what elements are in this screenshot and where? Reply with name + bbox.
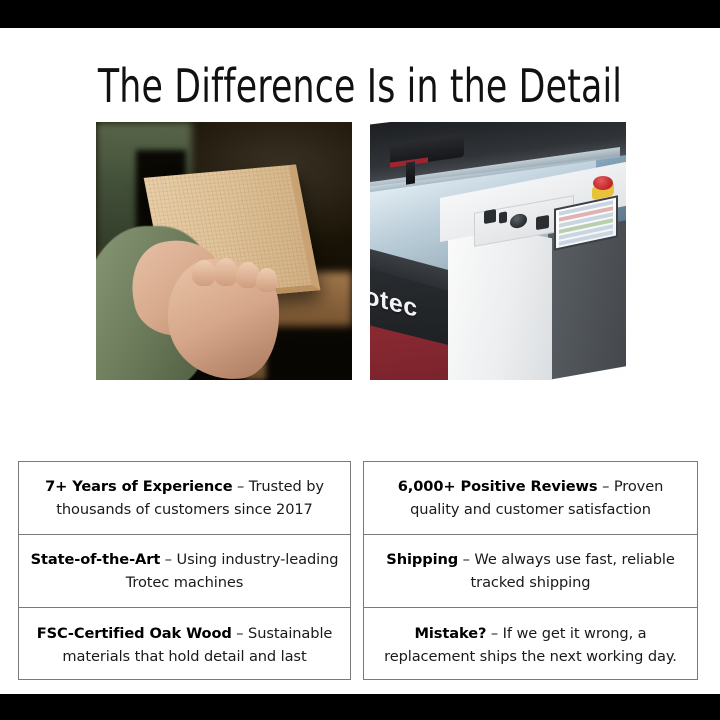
feature-headline: FSC-Certified Oak Wood [37,625,232,642]
photo-knuckle [192,260,216,286]
feature-text: Shipping – We always use fast, reliable … [374,548,687,594]
feature-separator: – [598,478,614,495]
photo-trotec-laser-machine: rotec [370,122,626,380]
photo-knuckle [256,268,278,292]
feature-separator: – [160,551,176,568]
machine-button[interactable] [499,211,507,223]
page-title: The Difference Is in the Detail [58,60,663,112]
feature-headline: 6,000+ Positive Reviews [398,478,598,495]
feature-cell: State-of-the-Art – Using industry-leadin… [19,535,350,608]
feature-cell: Mistake? – If we get it wrong, a replace… [364,608,697,681]
feature-table-right: 6,000+ Positive Reviews – Proven quality… [363,461,698,680]
feature-separator: – [233,478,249,495]
feature-separator: – [232,625,248,642]
feature-cell: 6,000+ Positive Reviews – Proven quality… [364,462,697,535]
feature-text: 6,000+ Positive Reviews – Proven quality… [374,475,687,521]
feature-text: 7+ Years of Experience – Trusted by thou… [29,475,340,521]
feature-separator: – [486,625,502,642]
machine-tower-front [448,218,552,380]
photo-oak-panel-in-hands [96,122,352,380]
machine-button[interactable] [536,215,549,230]
photo-row: rotec [0,122,720,380]
feature-separator: – [458,551,474,568]
letterbox-bar-top [0,0,720,28]
feature-headline: Mistake? [414,625,486,642]
machine-button[interactable] [484,209,496,224]
feature-text: State-of-the-Art – Using industry-leadin… [29,548,340,594]
feature-text: FSC-Certified Oak Wood – Sustainable mat… [29,622,340,668]
feature-cell: Shipping – We always use fast, reliable … [364,535,697,608]
photo-knuckle [214,258,238,286]
feature-headline: 7+ Years of Experience [45,478,232,495]
letterbox-bar-bottom [0,694,720,720]
feature-headline: Shipping [386,551,458,568]
feature-cell: FSC-Certified Oak Wood – Sustainable mat… [19,608,350,681]
slide-canvas: The Difference Is in the Detail [0,28,720,694]
feature-cell: 7+ Years of Experience – Trusted by thou… [19,462,350,535]
machine-laser-nozzle [406,161,415,185]
feature-headline: State-of-the-Art [31,551,161,568]
feature-body: We always use fast, reliable tracked shi… [471,551,675,591]
emergency-stop-button[interactable] [593,176,613,190]
feature-table-left: 7+ Years of Experience – Trusted by thou… [18,461,351,680]
feature-text: Mistake? – If we get it wrong, a replace… [374,622,687,668]
